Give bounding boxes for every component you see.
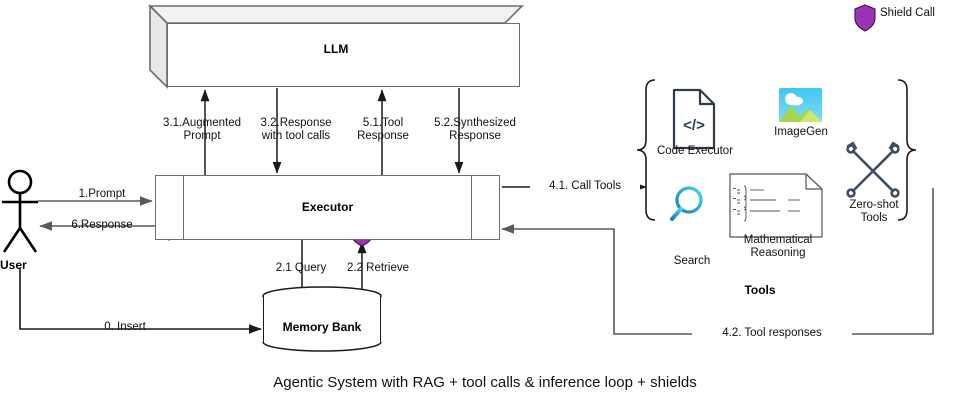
magnifier-icon	[672, 188, 701, 219]
memory-bank-node[interactable]	[263, 288, 381, 350]
edge-label-insert: 0. Insert	[70, 321, 180, 334]
math-document-icon	[730, 174, 822, 237]
edge-label-call-tools: 4.1. Call Tools	[530, 180, 640, 193]
tools-group-label: Tools	[700, 283, 820, 297]
llm-label: LLM	[150, 42, 522, 56]
svg-text:</>: </>	[683, 117, 705, 134]
tool-label-imagegen: ImageGen	[760, 126, 842, 139]
memory-bank-label: Memory Bank	[263, 320, 381, 334]
tool-label-zero-shot-tools: Zero-shot Tools	[838, 199, 910, 225]
edge-label-synthesized-response: 5.2.Synthesized Response	[420, 117, 530, 143]
user-figure	[2, 171, 38, 252]
diagram-caption: Agentic System with RAG + tool calls & i…	[0, 374, 970, 391]
edge-label-tool-responses: 4.2. Tool responses	[692, 327, 852, 340]
shield-legend-icon	[855, 5, 875, 31]
tool-label-search: Search	[660, 255, 724, 268]
code-document-icon: </>	[674, 90, 714, 148]
tool-label-math-reasoning: Mathematical Reasoning	[723, 234, 833, 260]
edge-label-response: 6.Response	[48, 219, 156, 232]
edge-label-prompt: 1.Prompt	[52, 188, 152, 201]
user-label: User	[0, 258, 44, 272]
legend-shield-label: Shield Call	[880, 7, 935, 19]
image-picture-icon	[779, 88, 822, 122]
crossed-wrench-icon	[848, 143, 899, 196]
edge-insert	[20, 268, 261, 329]
edge-label-retrieve: 2.2 Retrieve	[330, 262, 426, 275]
memory-bank-body	[263, 296, 381, 342]
diagram-canvas: </>	[0, 0, 970, 411]
tool-label-code-executor: Code Executor	[645, 145, 745, 158]
edge-label-tool-response: 5.1.Tool Response	[338, 117, 428, 143]
executor-label: Executor	[155, 200, 500, 214]
